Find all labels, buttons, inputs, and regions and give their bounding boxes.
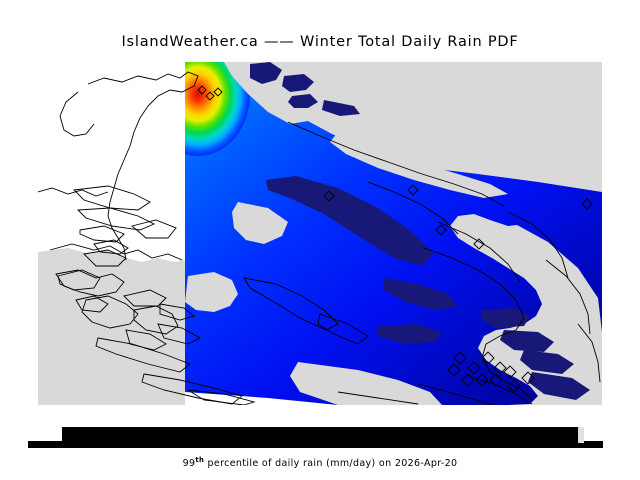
colorbar[interactable] [38, 427, 602, 445]
colorbar-axis-line [30, 443, 600, 446]
colorbar-caption: 99th percentile of daily rain (mm/day) o… [0, 456, 640, 469]
mainland-southwest-landmass [38, 306, 185, 405]
colorbar-edge-cap [578, 427, 584, 444]
caption-percentile-number: 99 [183, 458, 196, 469]
map-canvas[interactable] [38, 62, 602, 405]
colorbar-gradient [62, 427, 578, 444]
map-panel[interactable] [38, 62, 602, 405]
caption-percentile-suffix: th [195, 456, 204, 464]
page-title: IslandWeather.ca —— Winter Total Daily R… [0, 34, 640, 50]
caption-rest: percentile of daily rain (mm/day) on 202… [204, 458, 457, 469]
